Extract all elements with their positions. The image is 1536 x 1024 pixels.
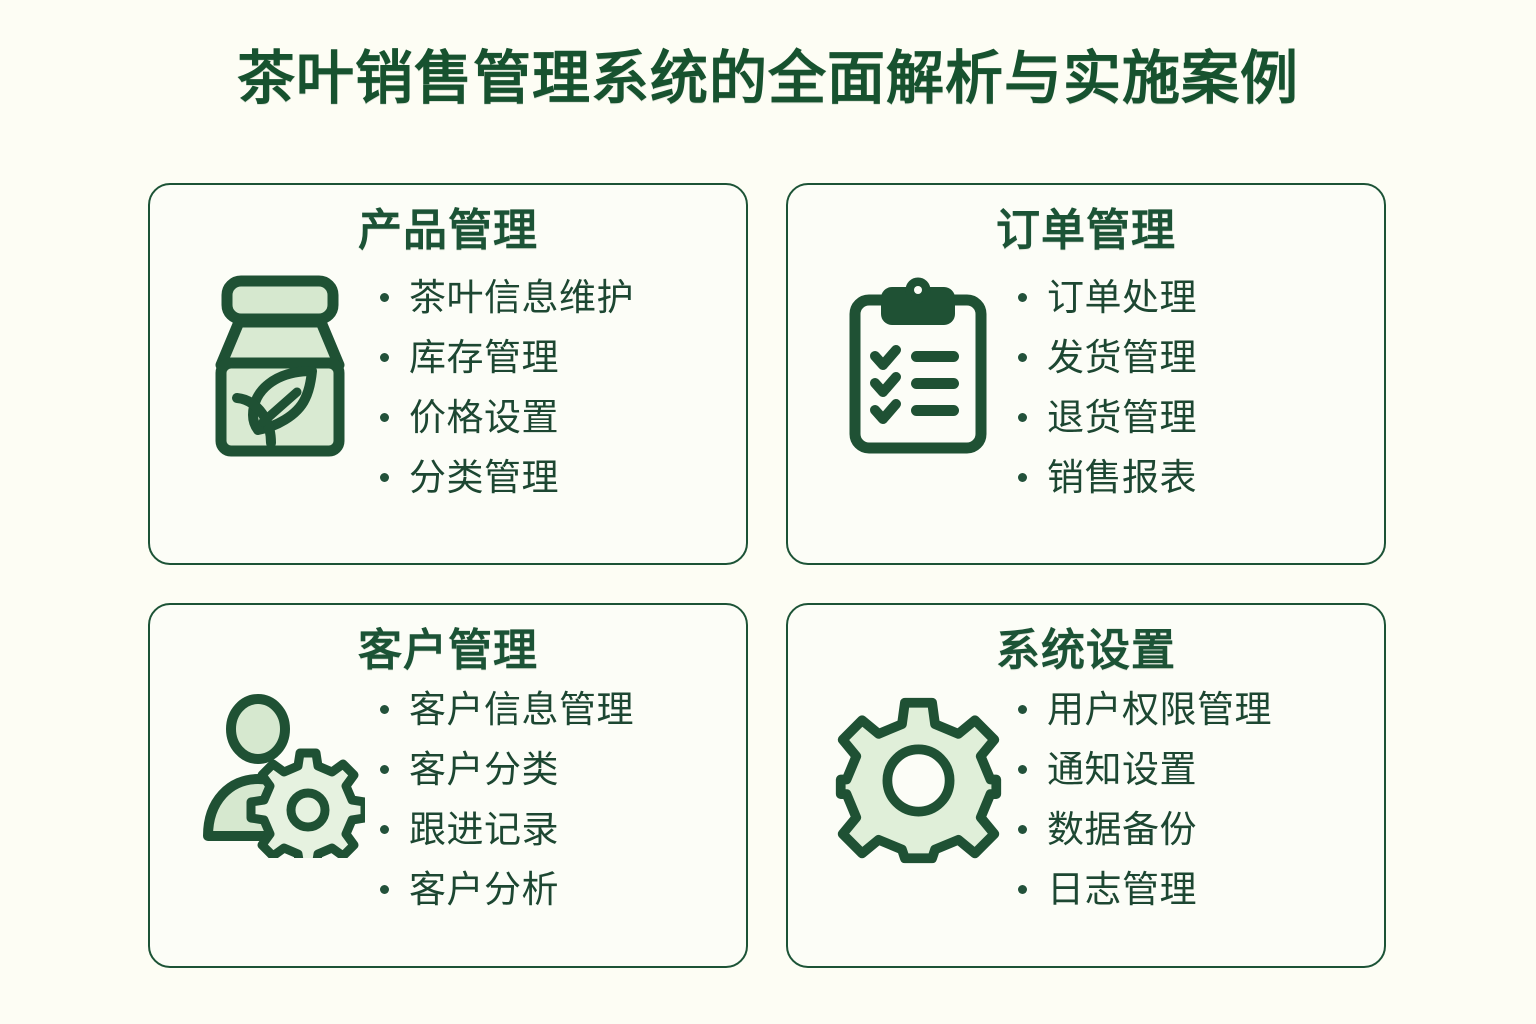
list-item: 日志管理 <box>1018 859 1368 919</box>
card-title: 产品管理 <box>150 207 746 255</box>
bullet-icon <box>1018 473 1027 482</box>
infographic-page: 茶叶销售管理系统的全面解析与实施案例 产品管理 <box>0 0 1536 1024</box>
tea-jar-icon <box>180 267 380 460</box>
list-item-label: 客户分析 <box>409 871 559 908</box>
list-item: 分类管理 <box>380 447 730 507</box>
list-item: 通知设置 <box>1018 739 1368 799</box>
feature-list: 茶叶信息维护 库存管理 价格设置 分类管理 <box>380 267 730 507</box>
bullet-icon <box>380 825 389 834</box>
bullet-icon <box>380 293 389 302</box>
card-title: 系统设置 <box>788 627 1384 675</box>
list-item-label: 客户信息管理 <box>409 691 634 728</box>
card-title: 客户管理 <box>150 627 746 675</box>
bullet-icon <box>1018 765 1027 774</box>
clipboard-checklist-icon <box>818 267 1018 460</box>
bullet-icon <box>1018 825 1027 834</box>
user-gear-icon <box>180 679 380 858</box>
card-body: 茶叶信息维护 库存管理 价格设置 分类管理 <box>150 267 746 507</box>
list-item-label: 客户分类 <box>409 751 559 788</box>
card-system-settings: 系统设置 用户权限管理 通知设置 数据备份 日志管理 <box>786 603 1386 968</box>
bullet-icon <box>1018 353 1027 362</box>
bullet-icon <box>380 353 389 362</box>
list-item: 订单处理 <box>1018 267 1368 327</box>
list-item-label: 库存管理 <box>409 339 559 376</box>
list-item: 数据备份 <box>1018 799 1368 859</box>
list-item: 客户分类 <box>380 739 730 799</box>
card-order-management: 订单管理 <box>786 183 1386 565</box>
list-item-label: 分类管理 <box>409 459 559 496</box>
card-body: 订单处理 发货管理 退货管理 销售报表 <box>788 267 1384 507</box>
list-item: 销售报表 <box>1018 447 1368 507</box>
feature-list: 订单处理 发货管理 退货管理 销售报表 <box>1018 267 1368 507</box>
card-customer-management: 客户管理 客户信息管理 <box>148 603 748 968</box>
bullet-icon <box>380 885 389 894</box>
list-item-label: 用户权限管理 <box>1047 691 1272 728</box>
card-product-management: 产品管理 <box>148 183 748 565</box>
list-item: 跟进记录 <box>380 799 730 859</box>
bullet-icon <box>380 705 389 714</box>
list-item: 发货管理 <box>1018 327 1368 387</box>
card-body: 用户权限管理 通知设置 数据备份 日志管理 <box>788 679 1384 919</box>
list-item-label: 数据备份 <box>1047 811 1197 848</box>
list-item: 客户信息管理 <box>380 679 730 739</box>
list-item: 退货管理 <box>1018 387 1368 447</box>
list-item-label: 茶叶信息维护 <box>409 279 634 316</box>
list-item-label: 发货管理 <box>1047 339 1197 376</box>
list-item-label: 通知设置 <box>1047 751 1197 788</box>
list-item: 茶叶信息维护 <box>380 267 730 327</box>
list-item: 价格设置 <box>380 387 730 447</box>
feature-card-grid: 产品管理 <box>148 183 1396 968</box>
list-item-label: 销售报表 <box>1047 459 1197 496</box>
bullet-icon <box>1018 293 1027 302</box>
page-title: 茶叶销售管理系统的全面解析与实施案例 <box>0 46 1536 113</box>
bullet-icon <box>1018 705 1027 714</box>
list-item: 用户权限管理 <box>1018 679 1368 739</box>
list-item-label: 日志管理 <box>1047 871 1197 908</box>
bullet-icon <box>380 413 389 422</box>
list-item-label: 订单处理 <box>1047 279 1197 316</box>
card-body: 客户信息管理 客户分类 跟进记录 客户分析 <box>150 679 746 919</box>
bullet-icon <box>380 765 389 774</box>
card-title: 订单管理 <box>788 207 1384 255</box>
bullet-icon <box>1018 413 1027 422</box>
gear-icon <box>818 679 1018 868</box>
list-item-label: 跟进记录 <box>409 811 559 848</box>
list-item-label: 价格设置 <box>409 399 559 436</box>
feature-list: 用户权限管理 通知设置 数据备份 日志管理 <box>1018 679 1368 919</box>
bullet-icon <box>1018 885 1027 894</box>
feature-list: 客户信息管理 客户分类 跟进记录 客户分析 <box>380 679 730 919</box>
list-item: 客户分析 <box>380 859 730 919</box>
bullet-icon <box>380 473 389 482</box>
list-item: 库存管理 <box>380 327 730 387</box>
list-item-label: 退货管理 <box>1047 399 1197 436</box>
